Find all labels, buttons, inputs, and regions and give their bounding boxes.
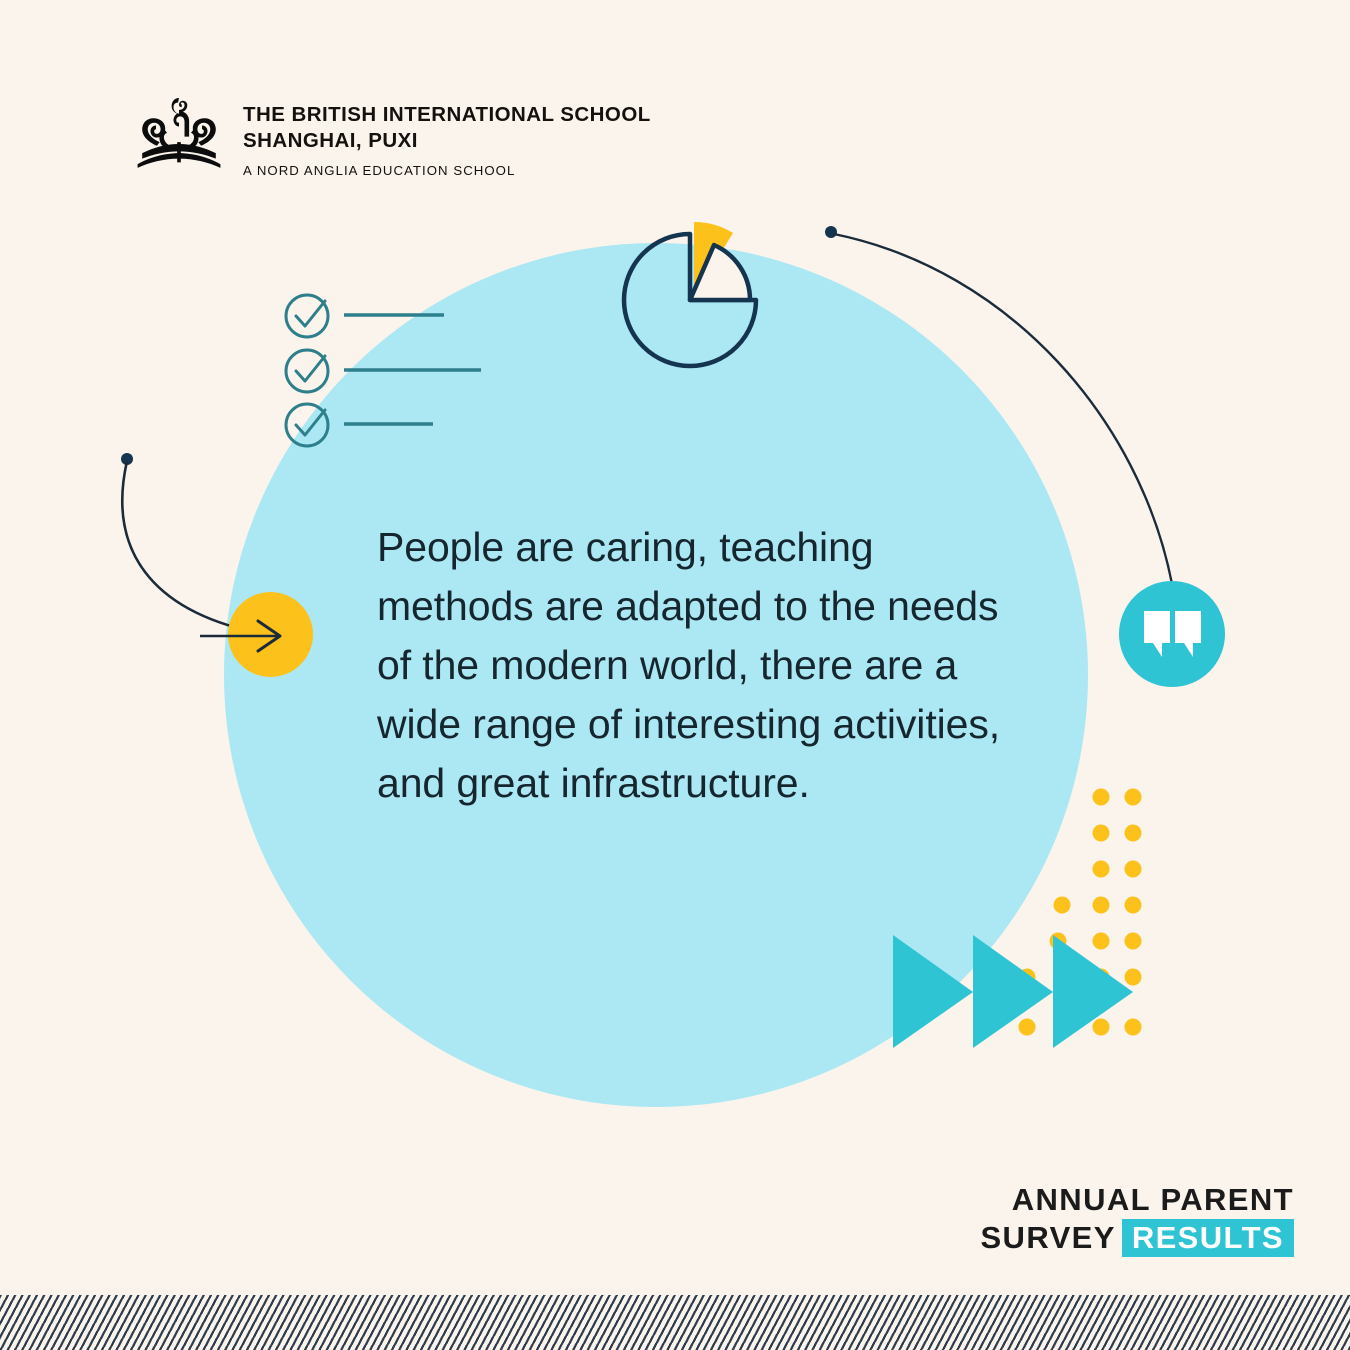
diagonal-stripe-band: [0, 1295, 1350, 1350]
brand-lockup: THE BRITISH INTERNATIONAL SCHOOL SHANGHA…: [133, 96, 651, 178]
footer-line-2: SURVEYRESULTS: [980, 1219, 1294, 1257]
footer-results-highlight: RESULTS: [1122, 1219, 1294, 1257]
footer-line-1: ANNUAL PARENT: [980, 1181, 1294, 1219]
quote-text: People are caring, teaching methods are …: [377, 518, 1002, 813]
quote-badge: [1119, 581, 1225, 687]
footer-title: ANNUAL PARENT SURVEYRESULTS: [980, 1181, 1294, 1257]
school-name: THE BRITISH INTERNATIONAL SCHOOL SHANGHA…: [243, 102, 651, 154]
poster-canvas: THE BRITISH INTERNATIONAL SCHOOL SHANGHA…: [0, 0, 1350, 1350]
crown-book-logo: [133, 96, 225, 168]
quotation-mark-icon: [1119, 581, 1225, 687]
school-tagline: A NORD ANGLIA EDUCATION SCHOOL: [243, 163, 651, 178]
footer-survey-label: SURVEY: [980, 1220, 1115, 1255]
